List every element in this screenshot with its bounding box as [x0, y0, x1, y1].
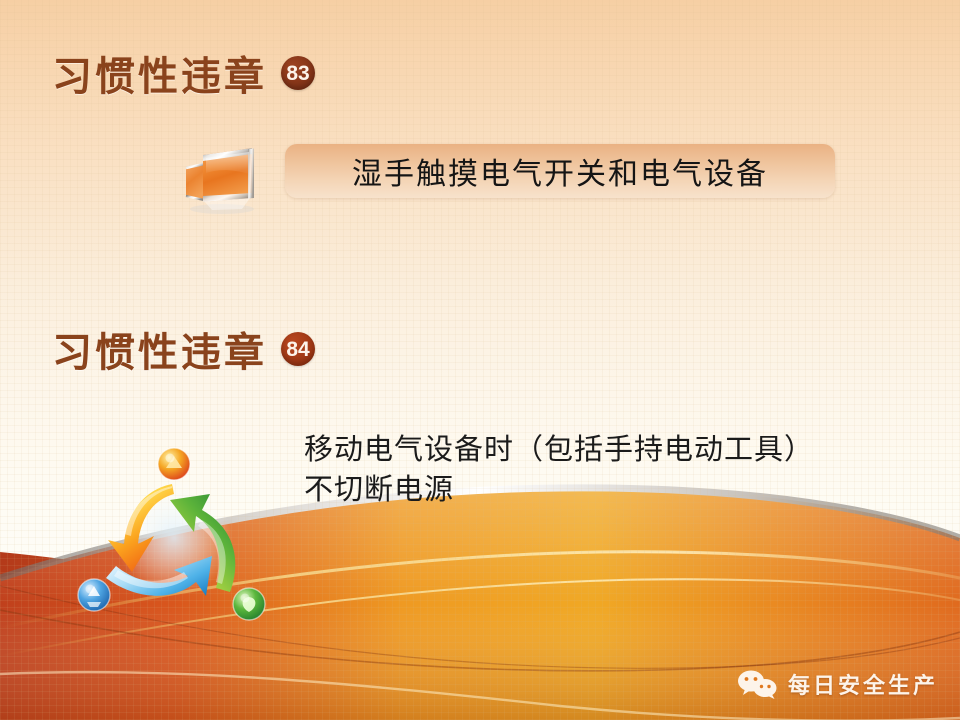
cycle-badge-sun [158, 448, 190, 480]
screens-icon [170, 138, 270, 218]
wechat-icon [736, 669, 778, 699]
banner-text-83: 湿手触摸电气开关和电气设备 [352, 149, 768, 193]
section-body-84: 移动电气设备时（包括手持电动工具） 不切断电源 [304, 430, 884, 510]
recycle-cycle-icon [62, 432, 292, 632]
banner-bar-83: 湿手触摸电气开关和电气设备 [285, 144, 835, 198]
heading-label-83: 习惯性违章 [52, 44, 267, 102]
watermark: 每日安全生产 [736, 668, 938, 700]
body-line-1: 移动电气设备时（包括手持电动工具） [304, 430, 884, 470]
body-line-2: 不切断电源 [304, 470, 884, 510]
watermark-text: 每日安全生产 [788, 668, 938, 700]
section-heading-83: 习惯性违章 83 [52, 44, 315, 102]
slide-canvas: 习惯性违章 83 [0, 0, 960, 720]
section-badge-83: 83 [281, 56, 315, 90]
cycle-badge-recycle [78, 579, 110, 611]
section-heading-84: 习惯性违章 84 [52, 320, 315, 378]
screens-icon-small-panel [186, 164, 204, 200]
cycle-badge-leaf [233, 588, 265, 620]
section-badge-84: 84 [281, 332, 315, 366]
heading-label-84: 习惯性违章 [52, 320, 267, 378]
